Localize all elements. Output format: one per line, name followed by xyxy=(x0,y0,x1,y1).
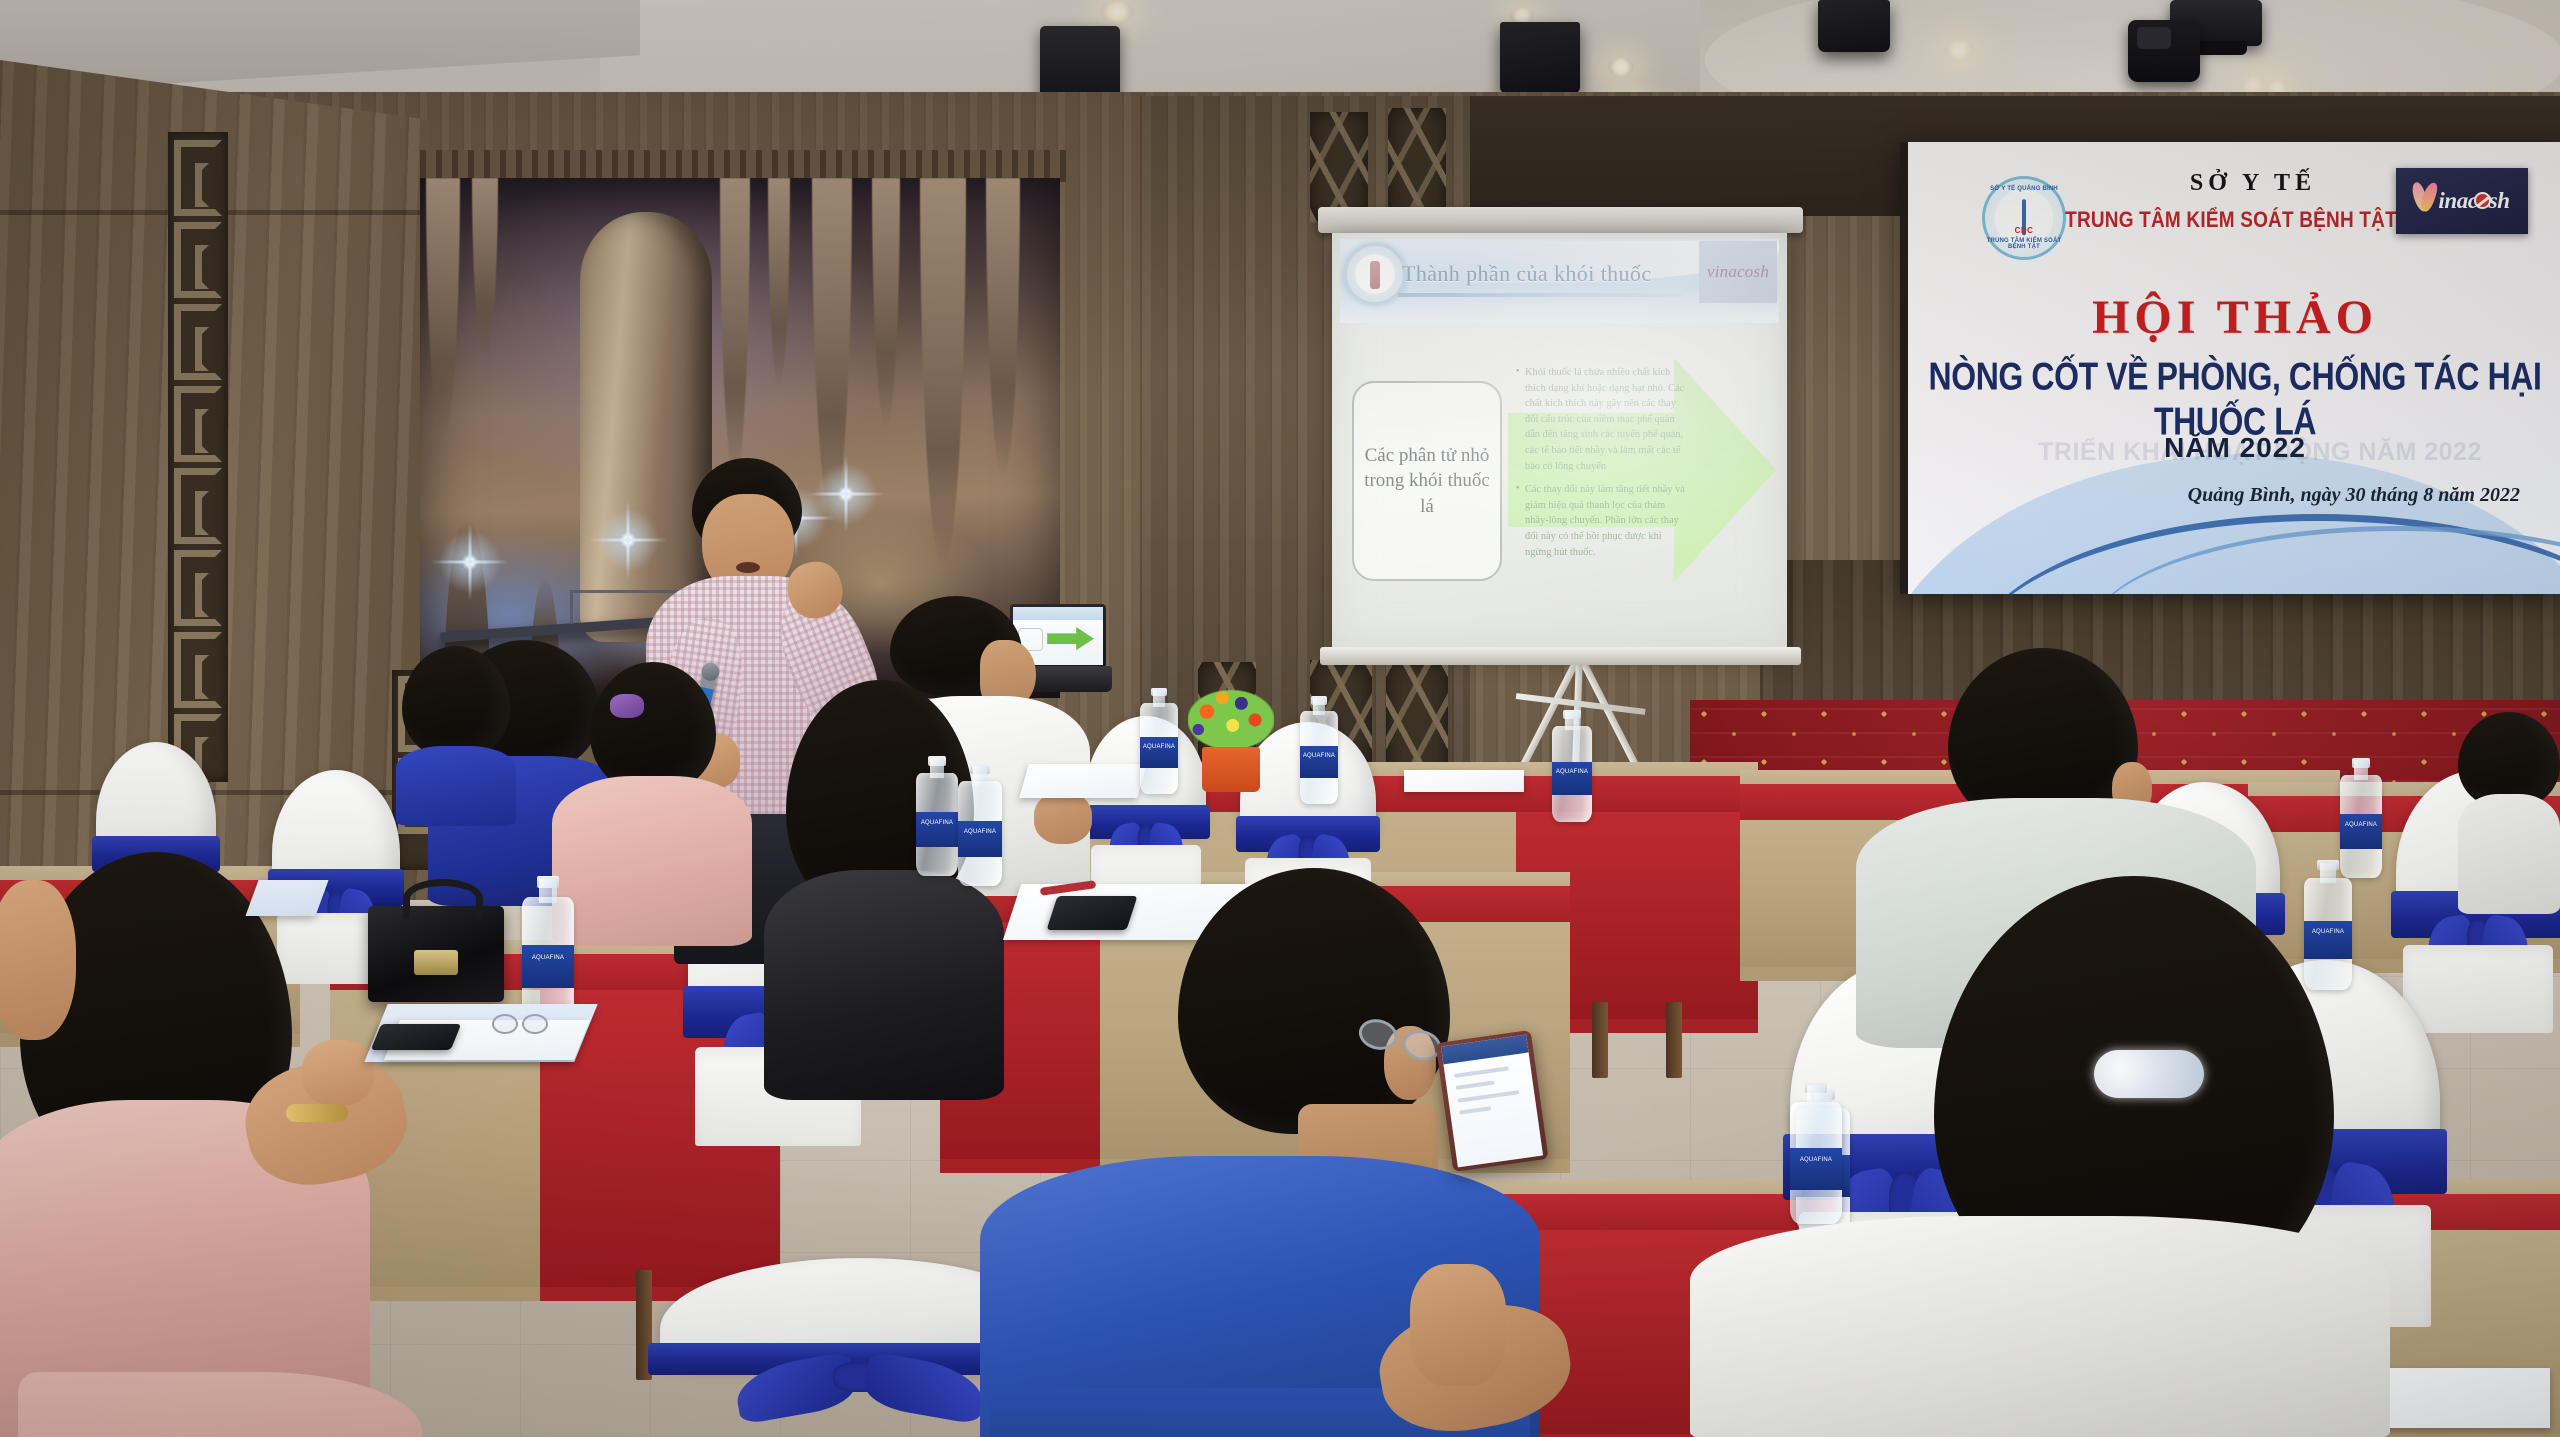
downlight-icon xyxy=(1944,40,1974,60)
banner-place-date: Quảng Bình, ngày 30 tháng 8 năm 2022 xyxy=(2188,484,2520,507)
hand xyxy=(302,1040,374,1106)
screen-bottom-bar xyxy=(1320,647,1801,665)
person-woman-pink-dress xyxy=(552,662,752,942)
slide-bullet: Khói thuốc lá chứa nhiều chất kích thích… xyxy=(1516,365,1688,474)
torso xyxy=(1690,1216,2390,1437)
hair-clip xyxy=(610,694,644,718)
water-bottle[interactable] xyxy=(1300,696,1338,804)
downlight-icon xyxy=(1100,2,1134,22)
eyeglasses[interactable] xyxy=(492,1014,548,1034)
water-bottle[interactable] xyxy=(1790,1082,1842,1224)
handbag[interactable] xyxy=(368,906,504,1002)
documents[interactable] xyxy=(245,880,328,916)
slide-title: Thành phần của khói thuốc xyxy=(1402,261,1667,287)
papers[interactable] xyxy=(1404,770,1524,792)
person-arm-far-left xyxy=(0,880,80,1040)
water-bottle[interactable] xyxy=(916,756,958,876)
mobile-phone[interactable] xyxy=(1435,1030,1548,1172)
torso xyxy=(552,776,752,946)
torso xyxy=(396,746,516,826)
moving-head-light xyxy=(2128,20,2200,82)
mouth xyxy=(736,562,760,573)
so-y-te-seal-icon xyxy=(1344,243,1406,305)
fretwork-panel-left xyxy=(168,132,228,782)
person-woman-white-right xyxy=(1690,1216,2390,1437)
water-bottle[interactable] xyxy=(1552,710,1592,822)
vinacosh-logo: inacosh xyxy=(2396,168,2528,234)
phone-on-table[interactable] xyxy=(371,1024,462,1050)
papers[interactable] xyxy=(1019,764,1147,798)
hair-clip-crystal xyxy=(2094,1050,2204,1098)
banner-title: HỘI THẢO xyxy=(1908,290,2560,345)
arm xyxy=(0,880,76,1040)
seal-arc-bottom: TRUNG TÂM KIỂM SOÁT BỆNH TẬT xyxy=(1985,238,2063,250)
downlight-icon xyxy=(1608,58,1634,76)
hand xyxy=(1034,792,1092,844)
seal-center-text: CDC xyxy=(2015,226,2034,235)
slide-bullet: Các thay đổi này làm tăng tiết nhầy và g… xyxy=(1516,482,1688,560)
slide: Thành phần của khói thuốc vinacosh Các p… xyxy=(1340,239,1779,643)
lattice-panel xyxy=(1386,658,1448,778)
phone-screen xyxy=(1441,1035,1543,1168)
person-woman-black-dress xyxy=(758,680,1008,1100)
water-bottle[interactable] xyxy=(1140,688,1178,794)
lattice-panel xyxy=(1310,112,1368,222)
water-bottle[interactable] xyxy=(522,876,574,1024)
torso xyxy=(764,870,1004,1100)
vinacosh-logo-icon: vinacosh xyxy=(1699,241,1777,303)
hand-holding-phone xyxy=(1410,1264,1506,1386)
ceiling-speaker xyxy=(1818,0,1890,52)
butterfly-icon xyxy=(2414,182,2436,220)
stage-light xyxy=(1040,26,1120,100)
person-man-blue-polo xyxy=(980,868,1680,1437)
projection-screen: Thành phần của khói thuốc vinacosh Các p… xyxy=(1332,213,1787,673)
banner-subtitle: NÒNG CỐT VỀ PHÒNG, CHỐNG TÁC HẠI THUỐC L… xyxy=(1916,354,2554,444)
hair xyxy=(590,662,716,792)
hair xyxy=(402,646,510,758)
screen-surface: Thành phần của khói thuốc vinacosh Các p… xyxy=(1332,233,1787,653)
screen-roller xyxy=(1318,207,1803,233)
ceiling-speaker xyxy=(1500,22,1580,94)
slide-title-rule xyxy=(1398,293,1683,297)
event-backdrop-banner: SỞ Y TẾ QUẢNG BÌNH CDC TRUNG TÂM KIỂM SO… xyxy=(1900,142,2560,594)
person-woman-far-left xyxy=(396,646,516,816)
photo-scene: Thành phần của khói thuốc vinacosh Các p… xyxy=(0,0,2560,1437)
person-partial-far-right xyxy=(2458,712,2560,902)
slide-callout-box: Các phân tử nhỏ trong khói thuốc lá xyxy=(1352,381,1502,581)
banner-year: NĂM 2022 xyxy=(1908,432,2560,464)
torso xyxy=(2458,794,2560,914)
slide-bullet-list: Khói thuốc lá chứa nhiều chất kích thích… xyxy=(1516,365,1688,568)
bracelet xyxy=(286,1104,348,1122)
flower-arrangement xyxy=(1188,684,1274,792)
no-smoking-icon xyxy=(2474,192,2491,209)
